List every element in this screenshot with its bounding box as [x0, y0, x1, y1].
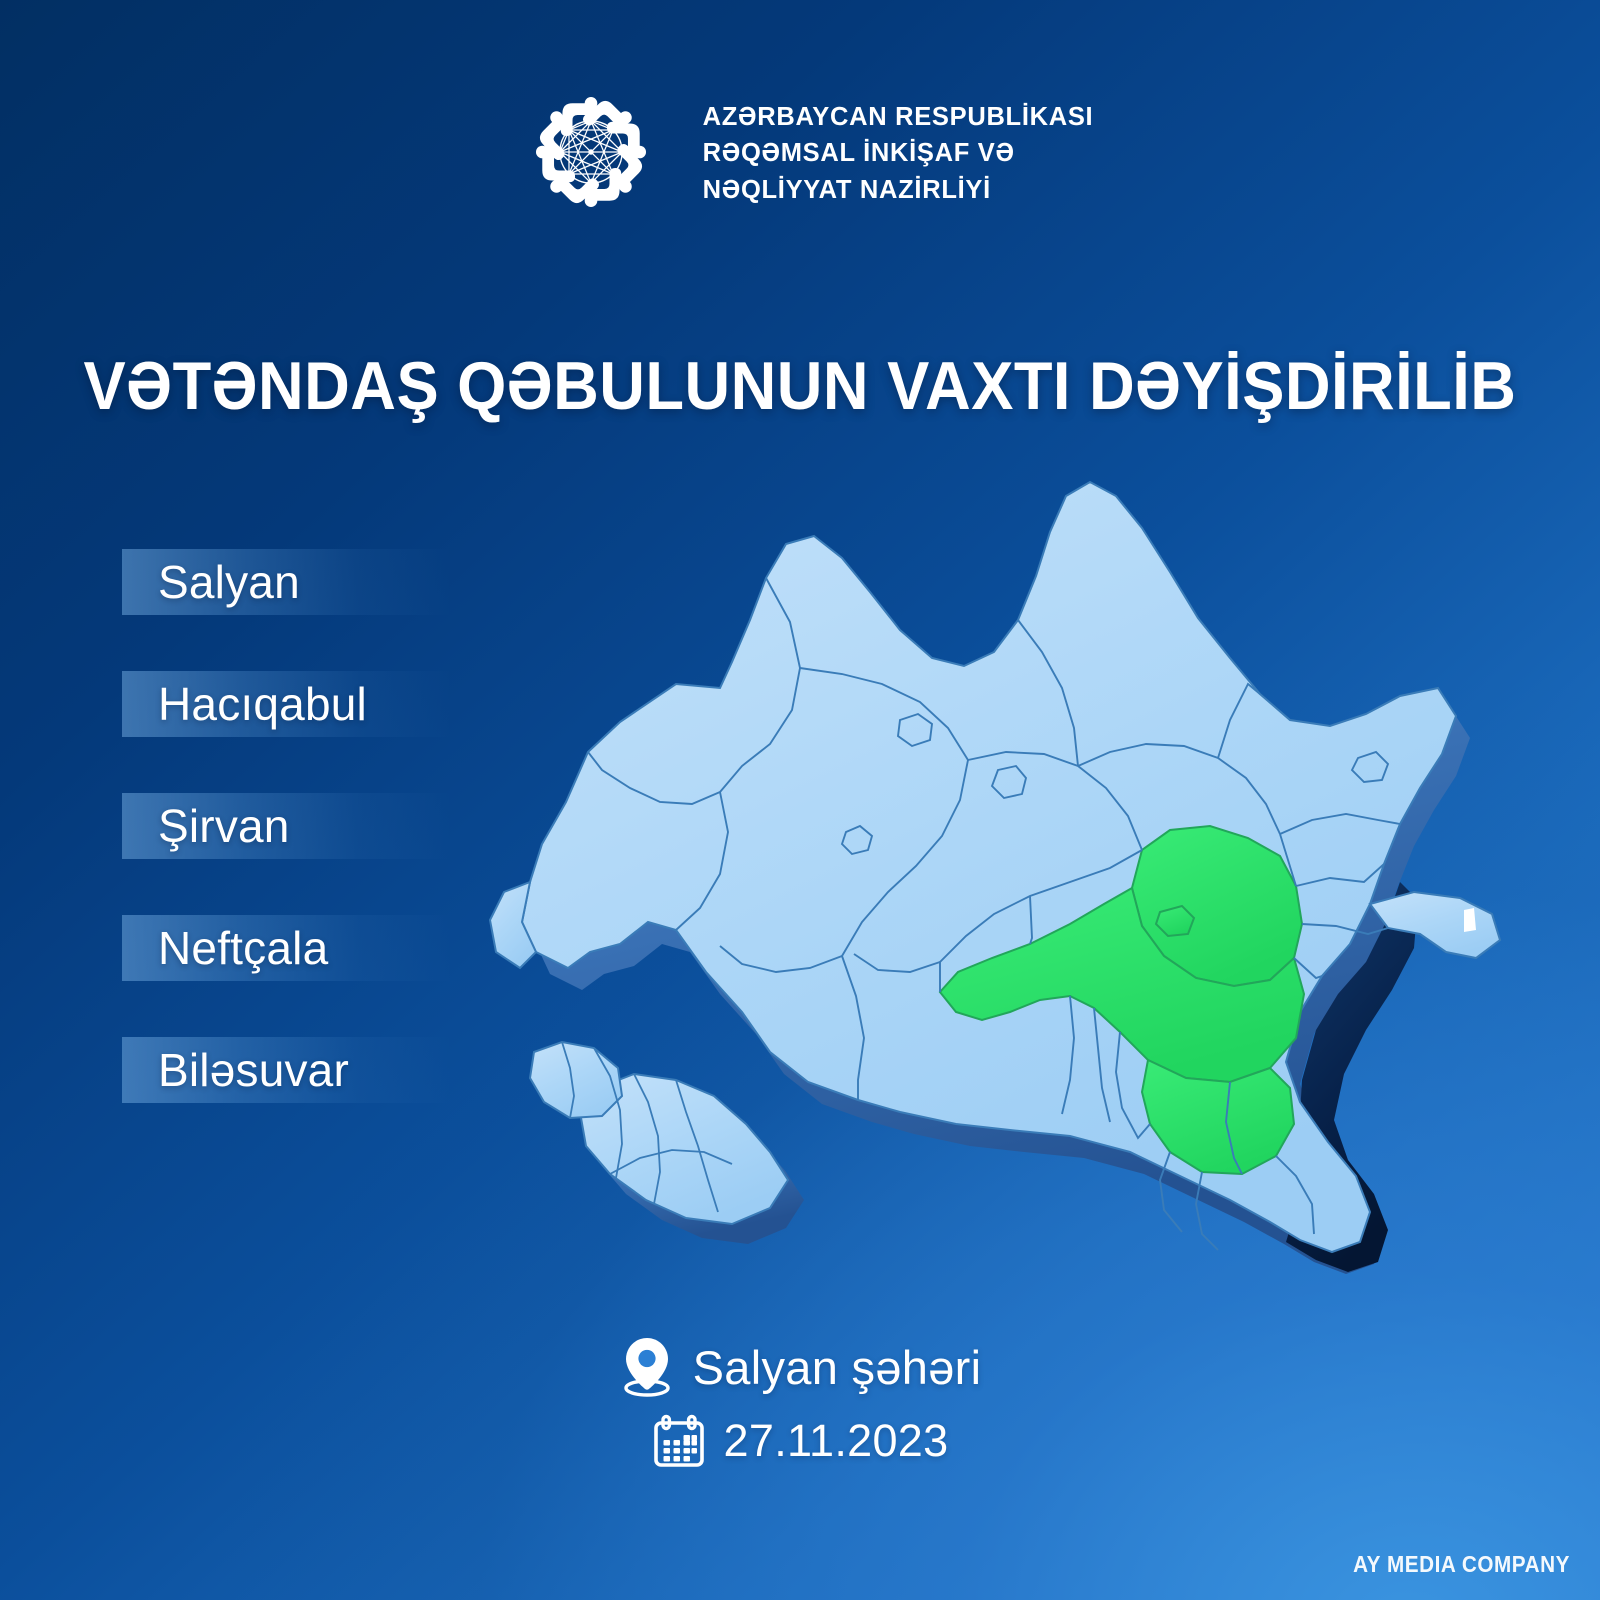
meta-row-location: Salyan şəhəri [619, 1336, 982, 1398]
event-meta: Salyan şəhəri [0, 1336, 1600, 1468]
calendar-icon [652, 1414, 706, 1468]
ministry-name: AZƏRBAYCAN RESPUBLİKASI RƏQƏMSAL İNKİŞAF… [703, 97, 1094, 208]
header-lockup: AZƏRBAYCAN RESPUBLİKASI RƏQƏMSAL İNKİŞAF… [0, 68, 1600, 236]
azerbaijan-map-svg [470, 452, 1530, 1312]
ministry-line-3: NƏQLİYYAT NAZİRLİYİ [703, 174, 1094, 208]
region-label: Neftçala [122, 921, 328, 975]
region-label: Salyan [122, 555, 300, 609]
page-title: VƏTƏNDAŞ QƏBULUNUN VAXTI DƏYİŞDİRİLİB [56, 352, 1544, 420]
region-label: Şirvan [122, 799, 290, 853]
poster-root: AZƏRBAYCAN RESPUBLİKASI RƏQƏMSAL İNKİŞAF… [0, 0, 1600, 1600]
region-label: Hacıqabul [122, 677, 367, 731]
date-label: 27.11.2023 [724, 1415, 949, 1467]
watermark: AY MEDIA COMPANY [1353, 1551, 1570, 1578]
location-label: Salyan şəhəri [693, 1340, 982, 1395]
ministry-line-2: RƏQƏMSAL İNKİŞAF VƏ [703, 137, 1094, 171]
nakhchivan-exclave [530, 1042, 788, 1224]
azerbaijan-map [470, 452, 1530, 1312]
region-label: Biləsuvar [122, 1043, 349, 1097]
location-pin-icon [619, 1336, 675, 1398]
meta-row-date: 27.11.2023 [652, 1414, 949, 1468]
ministry-rosette-network-logo [507, 68, 675, 236]
ministry-line-1: AZƏRBAYCAN RESPUBLİKASI [703, 101, 1094, 135]
